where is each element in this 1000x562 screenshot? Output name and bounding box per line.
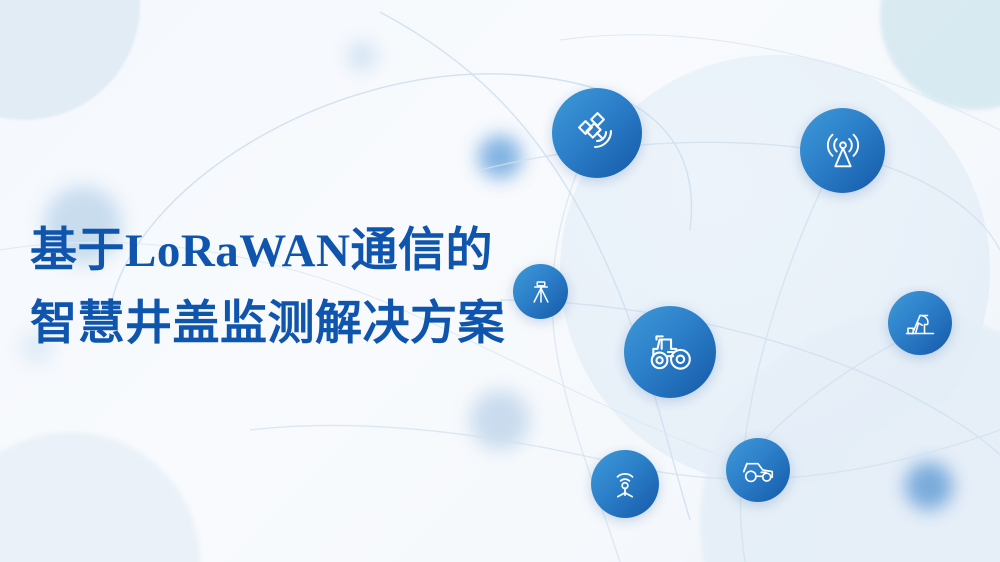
- node-satellite[interactable]: [552, 88, 642, 178]
- background-blob-bottom-right: [700, 312, 1000, 562]
- sensor-beacon-icon: [606, 465, 644, 503]
- background-dot-b: [347, 41, 377, 71]
- presentation-slide: 基于LoRaWAN通信的 智慧井盖监测解决方案: [0, 0, 1000, 562]
- satellite-icon: [573, 109, 621, 157]
- background-dot-e: [905, 462, 953, 510]
- node-sensor-beacon[interactable]: [591, 450, 659, 518]
- background-dot-c: [478, 135, 522, 179]
- title-block: 基于LoRaWAN通信的 智慧井盖监测解决方案: [0, 228, 560, 348]
- radio-tower-icon: [820, 128, 866, 174]
- node-tractor[interactable]: [624, 306, 716, 398]
- tractor-icon: [645, 327, 695, 377]
- page-title-line-1: 基于LoRaWAN通信的: [30, 228, 560, 275]
- harvester-icon: [739, 451, 777, 489]
- background-blob-top-left: [0, 0, 140, 120]
- background-blob-top-right: [880, 0, 1000, 110]
- node-radio-tower[interactable]: [800, 108, 885, 193]
- background-blob-bottom-left: [0, 432, 200, 562]
- page-title-line-2: 智慧井盖监测解决方案: [30, 301, 560, 348]
- oil-pumpjack-icon: [902, 305, 938, 341]
- node-harvester[interactable]: [726, 438, 790, 502]
- background-dot-d: [470, 390, 530, 450]
- background-sphere-small: [820, 400, 1000, 562]
- node-oil-pumpjack[interactable]: [888, 291, 952, 355]
